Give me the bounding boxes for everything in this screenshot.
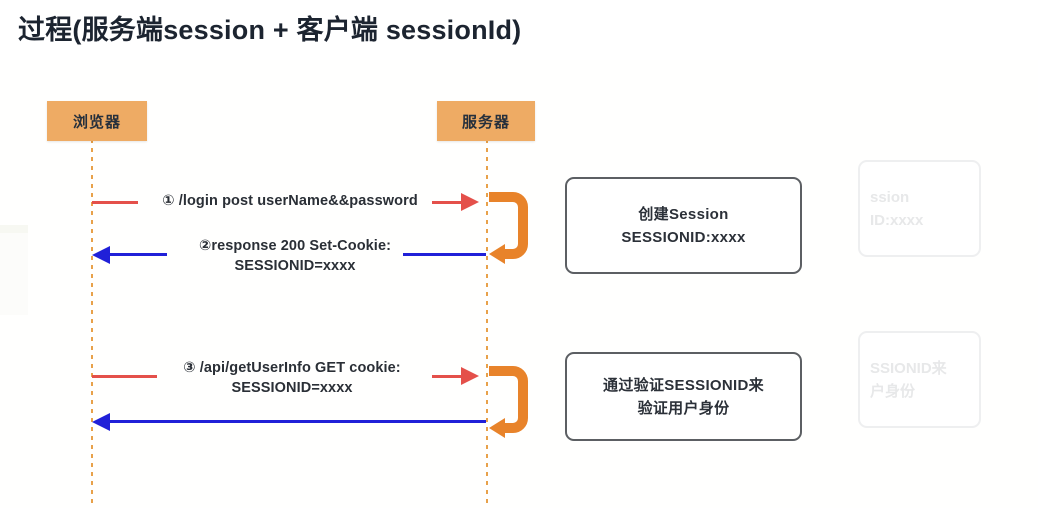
message-2-line-left xyxy=(109,253,167,256)
message-4-line xyxy=(109,420,486,423)
ghost-note-create-session: ssion ID:xxxx xyxy=(858,160,981,257)
message-1-line-right xyxy=(432,201,464,204)
server-selfloop-1-icon xyxy=(487,186,533,276)
message-3-label: ③ /api/getUserInfo GET cookie: SESSIONID… xyxy=(152,358,432,398)
message-3-arrowhead-icon xyxy=(461,367,479,385)
message-1-line-left xyxy=(92,201,138,204)
server-selfloop-2-icon xyxy=(487,360,533,450)
lifeline-browser xyxy=(91,139,93,508)
message-3-line-right xyxy=(432,375,464,378)
message-2-line-right xyxy=(403,253,486,256)
page-title: 过程(服务端session + 客户端 sessionId) xyxy=(18,8,521,47)
actor-server-label: 服务器 xyxy=(462,111,510,132)
actor-browser[interactable]: 浏览器 xyxy=(47,101,147,141)
note-create-session-text: 创建Session SESSIONID:xxxx xyxy=(621,203,745,249)
message-2-arrowhead-icon xyxy=(92,246,110,264)
ghost-note-create-session-text: ssion ID:xxxx xyxy=(870,186,923,232)
message-2-label: ②response 200 Set-Cookie: SESSIONID=xxxx xyxy=(165,236,425,276)
message-1-label: ① /login post userName&&password xyxy=(140,191,440,211)
actor-browser-label: 浏览器 xyxy=(73,111,121,132)
note-verify-session: 通过验证SESSIONID来 验证用户身份 xyxy=(565,352,802,441)
actor-server[interactable]: 服务器 xyxy=(437,101,535,141)
page-bleed-left-strip xyxy=(0,225,28,233)
ghost-note-verify-session-text: SSIONID来 户身份 xyxy=(870,357,947,403)
page-bleed-left-block xyxy=(0,225,28,315)
message-3-line-left xyxy=(92,375,157,378)
note-create-session: 创建Session SESSIONID:xxxx xyxy=(565,177,802,274)
note-verify-session-text: 通过验证SESSIONID来 验证用户身份 xyxy=(603,374,764,420)
message-1-arrowhead-icon xyxy=(461,193,479,211)
message-4-arrowhead-icon xyxy=(92,413,110,431)
ghost-note-verify-session: SSIONID来 户身份 xyxy=(858,331,981,428)
